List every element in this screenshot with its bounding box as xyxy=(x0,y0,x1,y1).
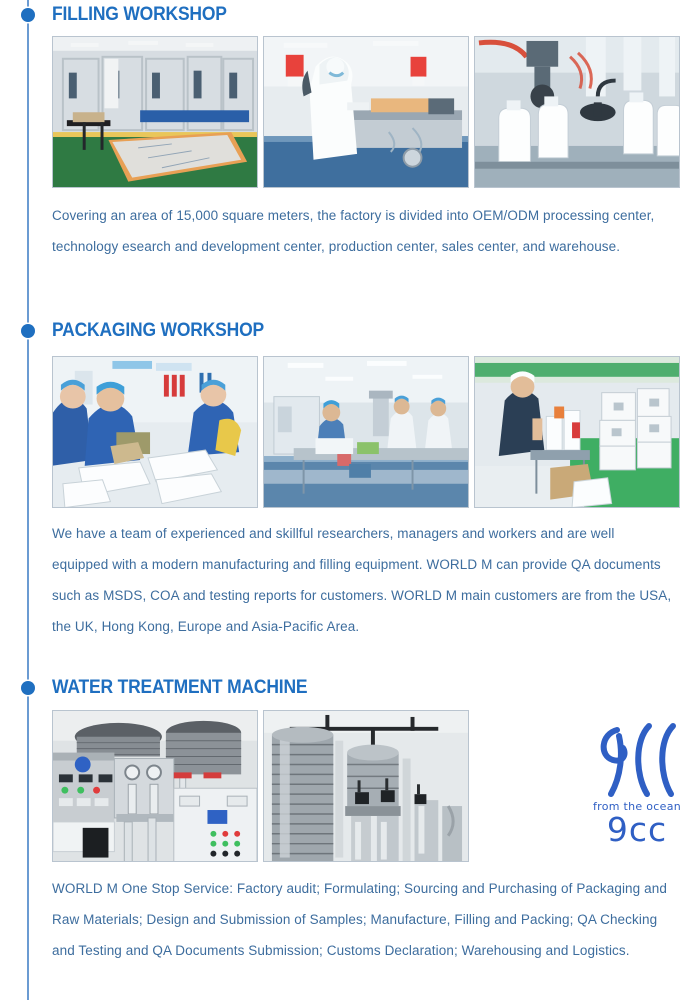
photo-water-storage-tanks-image xyxy=(264,711,468,862)
brand-logo-9cc: from the ocean 9cc xyxy=(552,716,693,856)
timeline-dot-filling-workshop xyxy=(21,8,35,22)
photo-row-filling-workshop xyxy=(52,36,680,188)
timeline-dot-water-treatment-machine xyxy=(21,681,35,695)
paragraph-one-stop-service: WORLD M One Stop Service: Factory audit;… xyxy=(52,873,672,966)
paragraph-packaging-workshop: We have a team of experienced and skillf… xyxy=(52,518,672,642)
photo-water-ro-control-panel-image xyxy=(53,711,257,862)
photo-packaging-line-steel-tables xyxy=(263,356,469,508)
photo-water-ro-control-panel xyxy=(52,710,258,862)
photo-row-water-treatment-machine xyxy=(52,710,469,862)
photo-filling-worker-operating-machine-image xyxy=(264,37,468,188)
brand-mark-ocean-waves-icon xyxy=(589,716,685,802)
photo-packaging-cartons-on-pallet xyxy=(474,356,680,508)
photo-filling-bottles-on-filler xyxy=(474,36,680,188)
paragraph-filling-workshop: Covering an area of 15,000 square meters… xyxy=(52,200,672,262)
timeline-dot-packaging-workshop xyxy=(21,324,35,338)
photo-filling-worker-operating-machine xyxy=(263,36,469,188)
section-heading-filling-workshop: FILLING WORKSHOP xyxy=(52,4,227,26)
photo-packaging-line-steel-tables-image xyxy=(264,357,468,508)
section-heading-packaging-workshop: PACKAGING WORKSHOP xyxy=(52,320,264,342)
photo-packaging-cartons-on-pallet-image xyxy=(475,357,679,508)
photo-filling-bottles-on-filler-image xyxy=(475,37,679,188)
photo-row-packaging-workshop xyxy=(52,356,680,508)
photo-packaging-workers-folding-cartons xyxy=(52,356,258,508)
photo-packaging-workers-folding-cartons-image xyxy=(53,357,257,508)
brand-wordmark: 9cc xyxy=(552,812,693,848)
timeline-vertical-line xyxy=(27,0,29,1000)
section-heading-water-treatment-machine: WATER TREATMENT MACHINE xyxy=(52,677,307,699)
photo-filling-assembly-line xyxy=(52,36,258,188)
photo-filling-assembly-line-image xyxy=(53,37,257,188)
photo-water-storage-tanks xyxy=(263,710,469,862)
